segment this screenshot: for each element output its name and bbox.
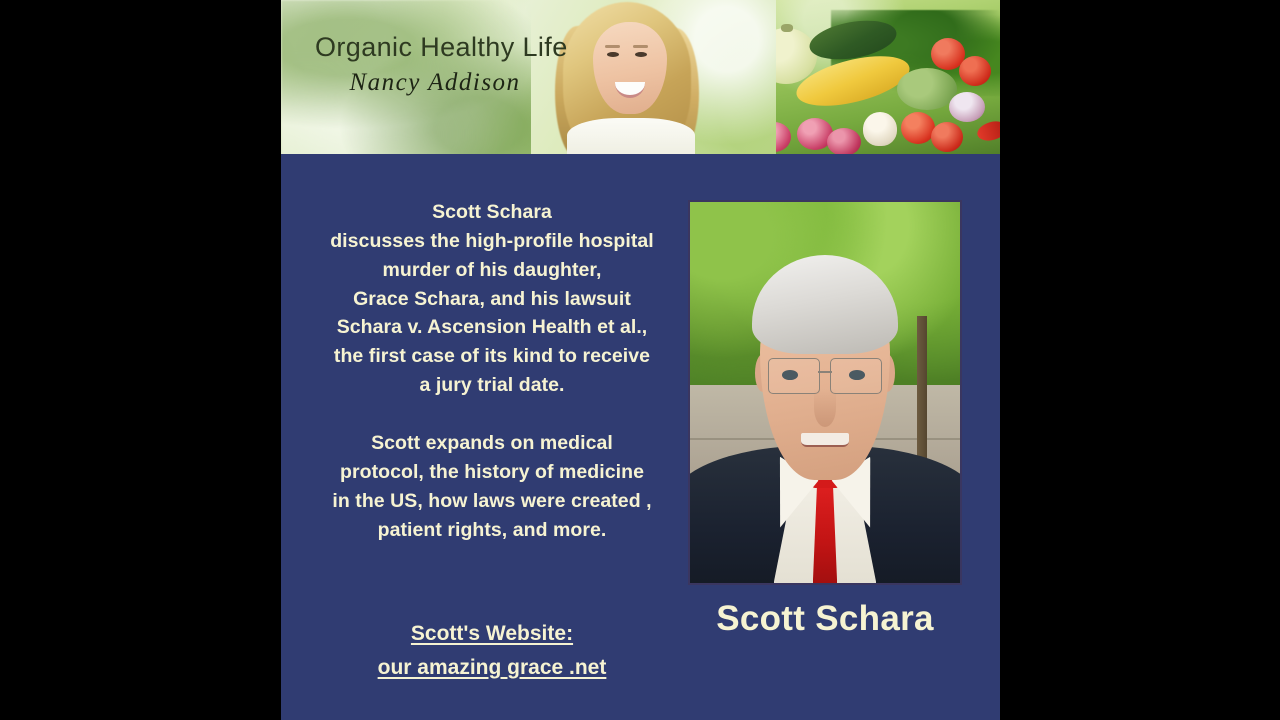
host-eyebrow-left (605, 45, 620, 48)
brand-logo: Organic Healthy Life Nancy Addison (315, 32, 555, 97)
onion-vegetable (949, 92, 985, 122)
tomato-vegetable (931, 122, 963, 152)
description-paragraph-one: Scott Schara discusses the high-profile … (291, 198, 693, 400)
presentation-slide: Organic Healthy Life Nancy Addison Scott… (281, 0, 1000, 720)
website-label-link[interactable]: Scott's Website: (291, 617, 693, 651)
melon-stem (781, 24, 793, 32)
banner-bottom-strip (281, 154, 1000, 158)
eyeglass-bridge (818, 371, 832, 373)
host-white-top (567, 118, 695, 158)
tomato-vegetable (901, 112, 935, 144)
guest-mouth (801, 433, 850, 447)
banner-vegetables-image (751, 0, 1000, 158)
guest-eye-right (849, 370, 865, 380)
tomato-vegetable (959, 56, 991, 86)
brand-host-name: Nancy Addison (315, 69, 555, 97)
radish-vegetable (827, 128, 861, 156)
guest-nose (814, 389, 836, 427)
round-zucchini-vegetable (897, 68, 957, 110)
description-text-column: Scott Schara discusses the high-profile … (291, 198, 693, 544)
website-url-link[interactable]: our amazing grace .net (291, 651, 693, 685)
website-block: Scott's Website: our amazing grace .net (291, 617, 693, 684)
garlic-vegetable (863, 112, 897, 146)
host-eyebrow-right (633, 45, 648, 48)
description-paragraph-two: Scott expands on medical protocol, the h… (291, 429, 693, 544)
host-eye-right (635, 52, 647, 57)
host-portrait-image (531, 0, 776, 158)
show-banner: Organic Healthy Life Nancy Addison (281, 0, 1000, 158)
guest-name-caption: Scott Schara (690, 599, 960, 639)
guest-photo (690, 202, 960, 583)
video-letterbox-frame: Organic Healthy Life Nancy Addison Scott… (0, 0, 1280, 720)
brand-title: Organic Healthy Life (315, 32, 555, 63)
host-eye-left (607, 52, 619, 57)
guest-eye-left (782, 370, 798, 380)
